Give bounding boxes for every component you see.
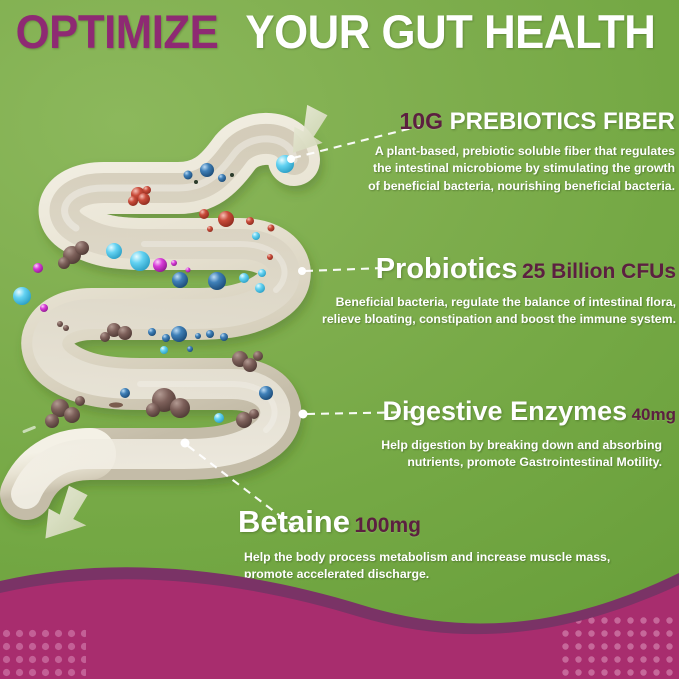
body-line: relieve bloating, constipation and boost…	[318, 311, 676, 328]
callout-enzymes-headline: Digestive Enzymes 40mg	[318, 398, 676, 425]
callout-betaine-dose: 100mg	[354, 514, 421, 537]
callout-prebiotics: 10G PREBIOTICS FIBER A plant-based, preb…	[330, 110, 675, 195]
callout-probiotics: Probiotics 25 Billion CFUs Beneficial ba…	[318, 255, 676, 329]
page-title: OPTIMIZE YOUR GUT HEALTH	[0, 8, 679, 55]
body-line: of beneficial bacteria, nourishing benef…	[330, 178, 675, 195]
callout-enzymes-title: Digestive Enzymes	[383, 396, 628, 426]
callout-prebiotics-title: PREBIOTICS FIBER	[450, 108, 675, 135]
body-line: Beneficial bacteria, regulate the balanc…	[318, 294, 676, 311]
callout-enzymes-body: Help digestion by breaking down and abso…	[318, 437, 676, 472]
callout-prebiotics-dose: 10G	[399, 108, 442, 134]
callout-prebiotics-headline: 10G PREBIOTICS FIBER	[330, 110, 675, 134]
callout-probiotics-headline: Probiotics 25 Billion CFUs	[318, 255, 676, 284]
callout-probiotics-dose: 25 Billion CFUs	[522, 260, 676, 283]
callout-prebiotics-body: A plant-based, prebiotic soluble fiber t…	[330, 143, 675, 195]
callout-probiotics-body: Beneficial bacteria, regulate the balanc…	[318, 294, 676, 329]
intestine-svg	[0, 118, 332, 508]
body-line: the intestinal microbiome by stimulating…	[330, 160, 675, 177]
body-line: Help digestion by breaking down and abso…	[318, 437, 662, 454]
halftone-dots-left	[0, 627, 86, 679]
infographic-poster: OPTIMIZE YOUR GUT HEALTH	[0, 0, 679, 679]
bottom-wave-decoration	[0, 549, 679, 679]
body-line: nutrients, promote Gastrointestinal Moti…	[318, 454, 662, 471]
title-accent-word: OPTIMIZE	[16, 8, 219, 55]
callout-betaine-title: Betaine	[238, 504, 350, 539]
callout-betaine-headline: Betaine 100mg	[238, 506, 676, 537]
callout-enzymes: Digestive Enzymes 40mg Help digestion by…	[318, 398, 676, 472]
halftone-dots-right	[560, 615, 679, 679]
intestine-tube	[26, 139, 294, 494]
title-plain-words: YOUR GUT HEALTH	[246, 8, 656, 55]
callout-probiotics-title: Probiotics	[376, 253, 518, 285]
callout-enzymes-dose: 40mg	[632, 405, 676, 424]
body-line: A plant-based, prebiotic soluble fiber t…	[330, 143, 675, 160]
intestine-illustration	[0, 118, 332, 508]
